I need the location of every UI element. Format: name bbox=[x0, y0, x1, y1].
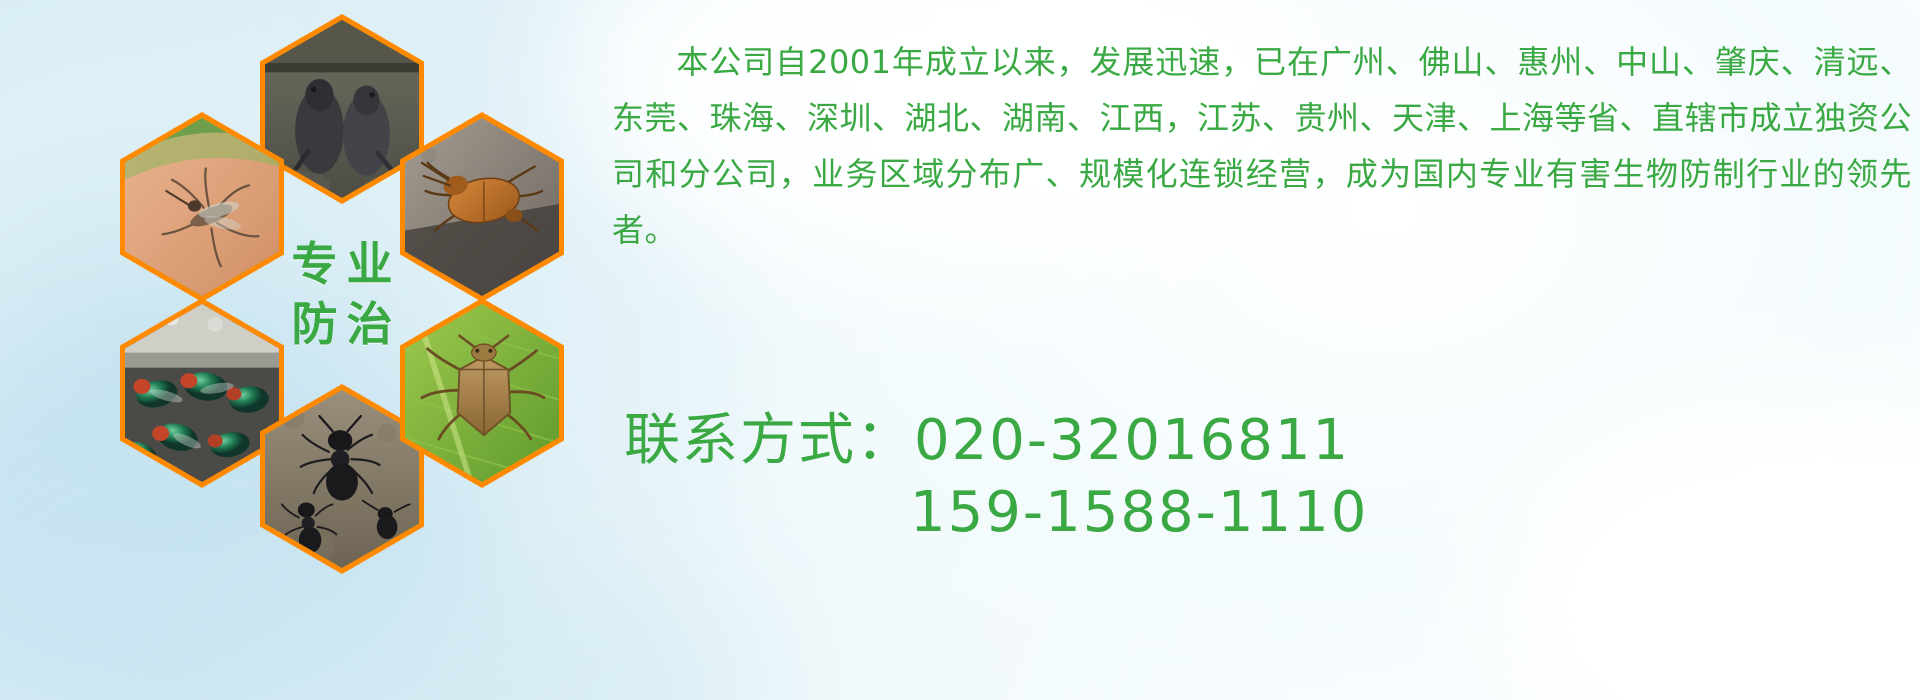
hex-cell-cockroach bbox=[400, 112, 564, 302]
phone-secondary[interactable]: 159-1588-1110 bbox=[910, 480, 1368, 545]
promo-banner: 专业 防治 本公司自2001年成立以来，发展迅速，已在广州、佛山、惠州、中山、肇… bbox=[0, 0, 1920, 700]
cockroach-photo bbox=[405, 118, 559, 296]
hex-cell-rats bbox=[260, 14, 424, 204]
phone-primary[interactable]: 020-32016811 bbox=[914, 408, 1350, 473]
contact-label: 联系方式： bbox=[624, 408, 914, 473]
intro-text: 本公司自2001年成立以来，发展迅速，已在广州、佛山、惠州、中山、肇庆、清远、东… bbox=[612, 43, 1912, 249]
badge-line-2: 防治 bbox=[283, 300, 402, 350]
stink-bug-photo bbox=[405, 304, 559, 482]
contact-block: 联系方式：020-32016811 159-1588-1110 bbox=[624, 405, 1824, 549]
contact-secondary-line: 159-1588-1110 bbox=[624, 477, 1824, 549]
hex-cell-ants bbox=[260, 384, 424, 574]
honeycomb-collage: 专业 防治 bbox=[92, 14, 592, 574]
contact-primary-line: 联系方式：020-32016811 bbox=[624, 405, 1824, 477]
hex-cell-stink-bug bbox=[400, 298, 564, 488]
background-wash bbox=[230, 560, 750, 700]
rats-photo bbox=[265, 20, 419, 198]
ants-photo bbox=[265, 390, 419, 568]
intro-paragraph: 本公司自2001年成立以来，发展迅速，已在广州、佛山、惠州、中山、肇庆、清远、东… bbox=[612, 34, 1912, 258]
badge-text: 专业 防治 bbox=[260, 200, 424, 390]
flies-photo bbox=[125, 304, 279, 482]
copy-column: 本公司自2001年成立以来，发展迅速，已在广州、佛山、惠州、中山、肇庆、清远、东… bbox=[612, 34, 1912, 258]
badge-line-1: 专业 bbox=[283, 240, 402, 290]
mosquito-photo bbox=[125, 118, 279, 296]
